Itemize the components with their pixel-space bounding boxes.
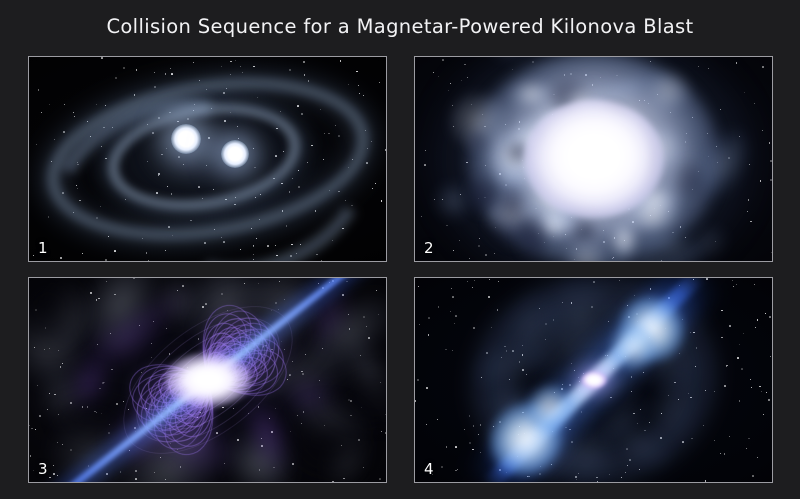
panel-4-bipolar-jets[interactable]: 4 [414, 277, 773, 483]
compact-central-source [581, 371, 607, 389]
panel-3-magnetar[interactable]: 3 [28, 277, 387, 483]
figure-root: Collision Sequence for a Magnetar-Powere… [0, 0, 800, 499]
panel-4-scene [415, 278, 772, 482]
panel-label-3: 3 [38, 462, 48, 477]
panel-3-scene [29, 278, 386, 482]
panel-label-4: 4 [424, 462, 434, 477]
panel-2-kilonova-explosion[interactable]: 2 [414, 56, 773, 262]
neutron-star-primary [171, 124, 201, 154]
panel-1-binary-inspiral[interactable]: 1 [28, 56, 387, 262]
panel-grid: 1 2 [28, 56, 773, 483]
panel-label-2: 2 [424, 241, 434, 256]
neutron-star-secondary [221, 140, 249, 168]
magnetar-core [165, 353, 251, 407]
explosion-core [524, 100, 664, 218]
panel-1-scene [29, 57, 386, 261]
panel-label-1: 1 [38, 241, 48, 256]
panel-2-scene [415, 57, 772, 261]
page-title: Collision Sequence for a Magnetar-Powere… [0, 0, 800, 52]
